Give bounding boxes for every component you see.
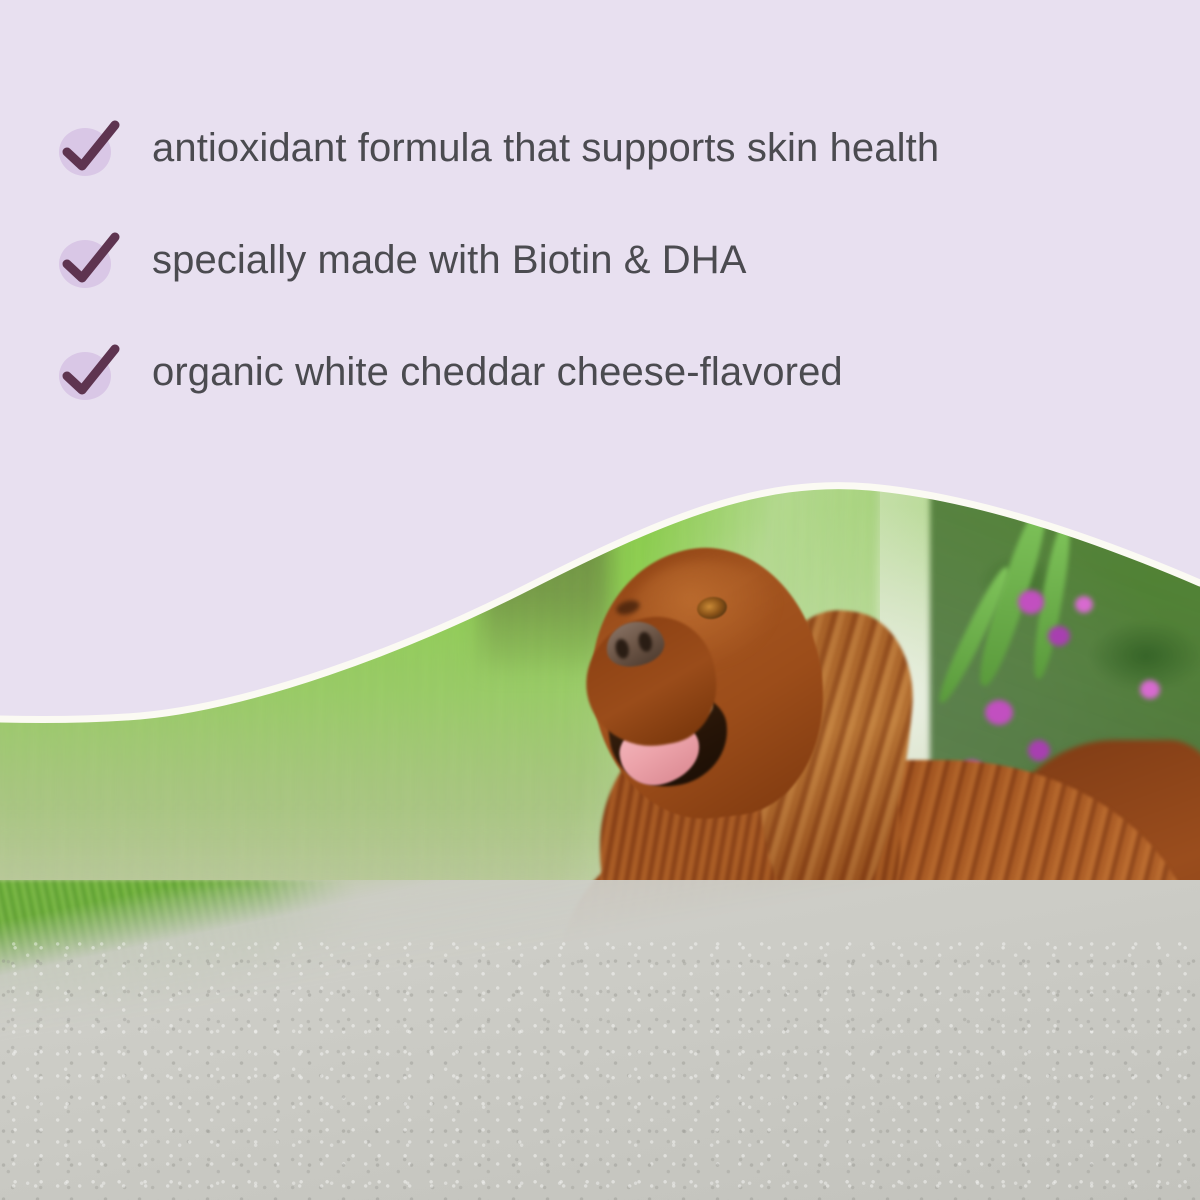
purple-flower [1028, 740, 1050, 761]
purple-flower [1140, 680, 1160, 699]
check-mark-icon [52, 112, 130, 184]
list-item: antioxidant formula that supports skin h… [52, 112, 939, 184]
dog-nostril [637, 631, 654, 653]
check-circle-icon [52, 336, 130, 408]
path-speckle-texture [0, 940, 1200, 1200]
purple-flower [985, 700, 1013, 725]
list-item-label: specially made with Biotin & DHA [130, 240, 747, 280]
purple-flower [1048, 626, 1070, 646]
list-item-label: organic white cheddar cheese-flavored [130, 352, 843, 392]
list-item: organic white cheddar cheese-flavored [52, 336, 843, 408]
check-mark-icon [52, 336, 130, 408]
product-benefit-banner: antioxidant formula that supports skin h… [0, 0, 1200, 1200]
purple-flower [1018, 590, 1044, 614]
check-circle-icon [52, 112, 130, 184]
check-mark-icon [52, 224, 130, 296]
check-circle-icon [52, 224, 130, 296]
purple-flower [1075, 596, 1093, 613]
list-item: specially made with Biotin & DHA [52, 224, 747, 296]
list-item-label: antioxidant formula that supports skin h… [130, 128, 939, 168]
dog-nostril [614, 638, 631, 660]
